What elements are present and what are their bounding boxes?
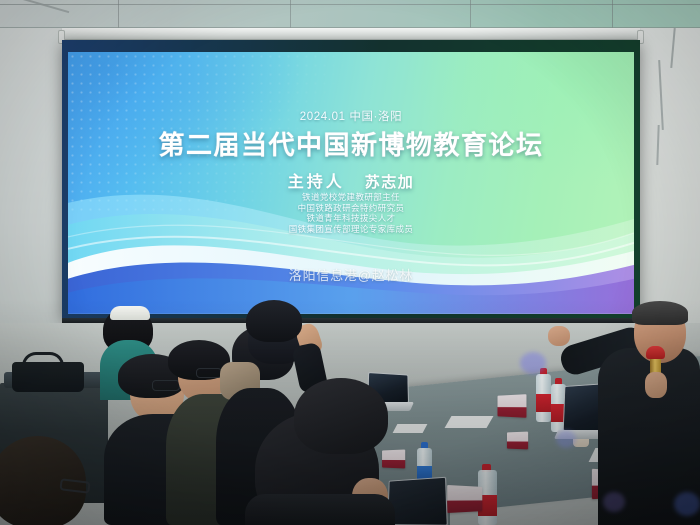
bag-handle (22, 352, 64, 366)
laptop-screen (387, 477, 448, 525)
bottle-label (536, 394, 551, 412)
ceiling-seam (470, 0, 471, 28)
credential-line: 铁道党校党建教研部主任 (289, 192, 414, 203)
speaker-mic-hand (645, 372, 667, 398)
table-name-card (382, 449, 405, 468)
light-flare (674, 492, 700, 516)
speaker-hand (548, 326, 570, 346)
paper-sheet (445, 416, 494, 428)
credential-line: 国铁集团宣传部理论专家库成员 (289, 224, 414, 235)
light-flare (520, 352, 546, 374)
light-flare (556, 430, 576, 448)
projector-screen-roller (62, 28, 640, 40)
credential-line: 铁道青年科技拔尖人才 (289, 213, 414, 224)
conference-room-scene: 2024.01 中国·洛阳 第二届当代中国新博物教育论坛 主持人 苏志加 铁道党… (0, 0, 700, 525)
host-credentials: 铁道党校党建教研部主任 中国铁路政研会特约研究员 铁道青年科技拔尖人才 国铁集团… (289, 192, 414, 234)
microphone-head (646, 346, 665, 359)
host-name: 苏志加 (365, 171, 415, 192)
ceiling-seam (118, 0, 119, 28)
slide-date-location: 2024.01 中国·洛阳 (68, 108, 634, 124)
light-flare (603, 492, 625, 512)
eyeglasses (152, 380, 180, 391)
slide-title: 第二届当代中国新博物教育论坛 (68, 125, 634, 162)
host-label: 主持人 (288, 168, 345, 192)
ceiling-seam (612, 0, 613, 28)
slide-host-row: 主持人 苏志加 (68, 168, 634, 192)
slide-text-block: 2024.01 中国·洛阳 第二届当代中国新博物教育论坛 主持人 苏志加 铁道党… (68, 52, 634, 314)
presentation-slide: 2024.01 中国·洛阳 第二届当代中国新博物教育论坛 主持人 苏志加 铁道党… (68, 52, 634, 314)
water-bottle (536, 368, 551, 422)
ceiling-seam (290, 0, 291, 28)
ceiling-seam (0, 4, 700, 5)
speaker-hair (632, 301, 688, 325)
paper-sheet (393, 424, 428, 433)
photo-watermark: 洛阳信息港@赵松林 (289, 265, 413, 284)
table-name-card (447, 485, 482, 513)
white-hat (110, 306, 150, 320)
audience-torso (245, 494, 395, 525)
eyeglasses (196, 368, 222, 378)
table-name-card (507, 432, 528, 450)
table-name-card (498, 394, 527, 418)
projection-screen: 2024.01 中国·洛阳 第二届当代中国新博物教育论坛 主持人 苏志加 铁道党… (62, 40, 640, 318)
credential-line: 中国铁路政研会特约研究员 (289, 203, 414, 214)
black-bag (12, 362, 84, 392)
wall-panel-left (0, 28, 70, 348)
